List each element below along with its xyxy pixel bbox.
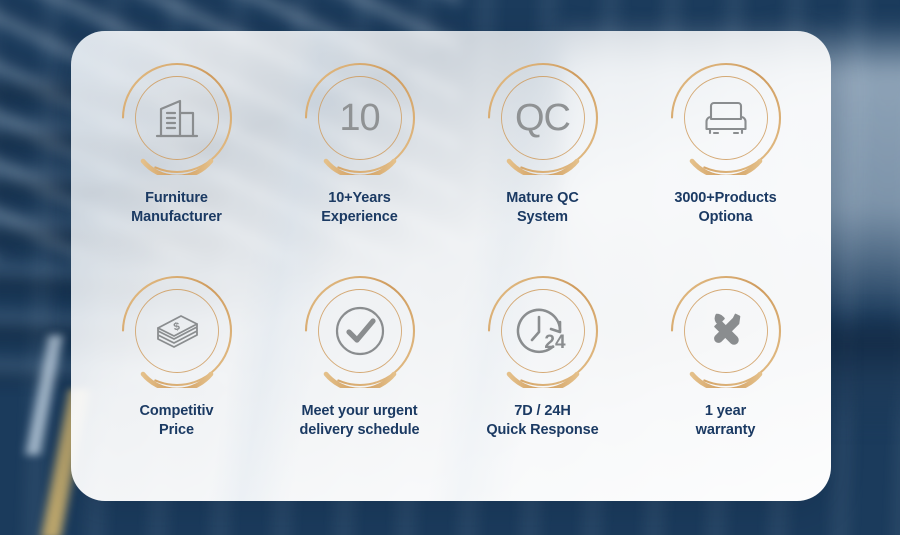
feature-warranty[interactable]: 1 yearwarranty [634,270,817,483]
feature-mature-qc-system[interactable]: QCMature QCSystem [451,57,634,270]
feature-caption-line2: Optiona [674,208,776,227]
factory-building-icon [146,87,208,149]
feature-badge [120,61,234,175]
feature-badge [669,274,783,388]
feature-caption-line1: 10+Years [328,190,391,206]
svg-text:24: 24 [544,332,566,353]
svg-text:$: $ [172,321,180,334]
feature-quick-response[interactable]: 24 7D / 24HQuick Response [451,270,634,483]
feature-caption-line2: Price [140,421,214,440]
feature-caption-line1: 1 year [705,403,746,419]
check-circle-icon [329,300,391,362]
feature-badge [669,61,783,175]
feature-competitive-price[interactable]: $ CompetitivPrice [85,270,268,483]
features-card: FurnitureManufacturer 1010+YearsExperien… [71,31,831,501]
feature-products-optional[interactable]: 3000+ProductsOptiona [634,57,817,270]
money-stack-icon: $ [146,300,208,362]
armchair-sofa-icon [695,87,757,149]
feature-caption: Meet your urgentdelivery schedule [300,402,420,439]
banner-stage: FurnitureManufacturer 1010+YearsExperien… [0,0,900,535]
feature-badge: QC [486,61,600,175]
feature-caption-line1: Furniture [145,190,208,206]
feature-caption: 10+YearsExperience [321,189,397,226]
feature-caption-line2: System [506,208,578,227]
feature-caption: 3000+ProductsOptiona [674,189,776,226]
feature-badge: $ [120,274,234,388]
feature-badge: 24 [486,274,600,388]
feature-caption-line1: Meet your urgent [301,403,417,419]
wrench-screwdriver-icon [695,300,757,362]
feature-furniture-manufacturer[interactable]: FurnitureManufacturer [85,57,268,270]
feature-caption: Mature QCSystem [506,189,578,226]
feature-caption: CompetitivPrice [140,402,214,439]
icon-text: QC [515,99,570,137]
feature-caption: FurnitureManufacturer [131,189,222,226]
feature-caption-line2: Quick Response [486,421,598,440]
feature-badge [303,274,417,388]
feature-caption: 1 yearwarranty [696,402,756,439]
feature-caption-line2: Manufacturer [131,208,222,227]
feature-caption-line2: warranty [696,421,756,440]
feature-caption-line1: 3000+Products [674,190,776,206]
feature-badge: 10 [303,61,417,175]
feature-urgent-delivery[interactable]: Meet your urgentdelivery schedule [268,270,451,483]
feature-caption: 7D / 24HQuick Response [486,402,598,439]
feature-caption-line1: Mature QC [506,190,578,206]
feature-caption-line2: Experience [321,208,397,227]
clock-24-icon: 24 [512,300,574,362]
feature-caption-line2: delivery schedule [300,421,420,440]
feature-caption-line1: 7D / 24H [514,403,570,419]
feature-years-experience[interactable]: 1010+YearsExperience [268,57,451,270]
icon-text: 10 [339,99,379,137]
feature-caption-line1: Competitiv [140,403,214,419]
features-grid: FurnitureManufacturer 1010+YearsExperien… [71,31,831,501]
qc-letters-icon: QC [512,87,574,149]
number-10-icon: 10 [329,87,391,149]
